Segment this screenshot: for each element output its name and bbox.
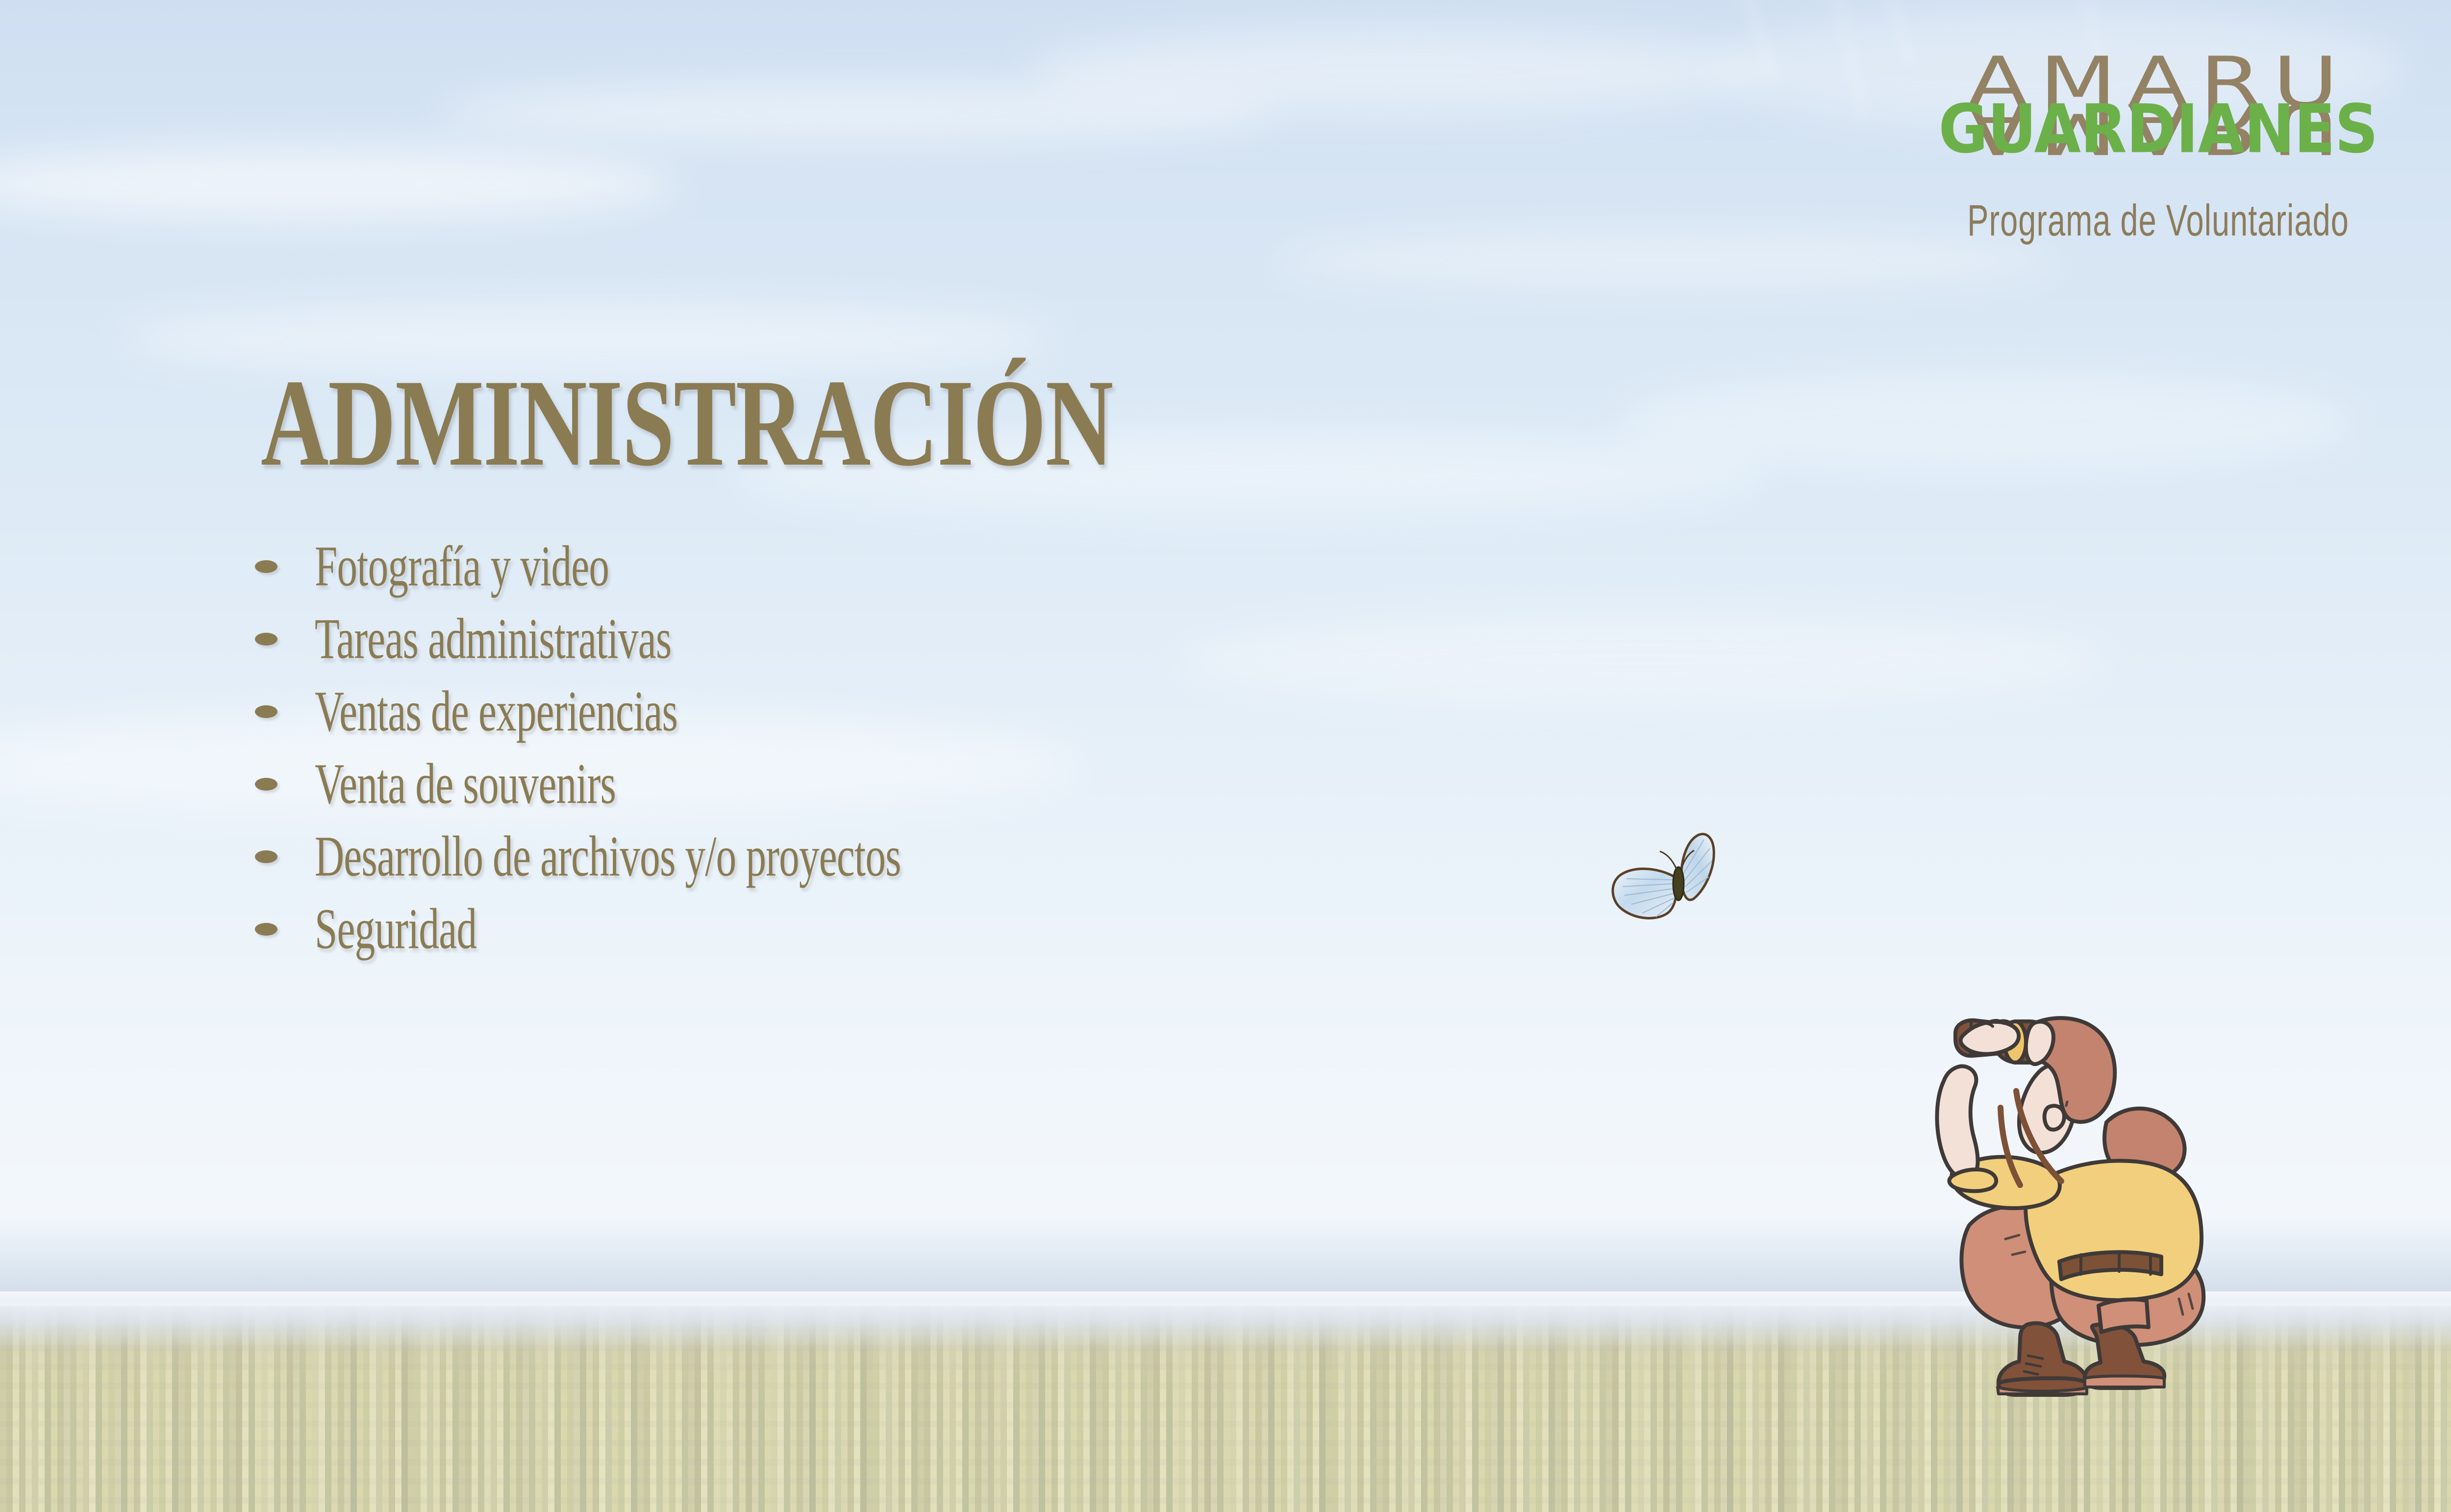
list-item-label: Fotografía y video bbox=[315, 538, 609, 595]
cloud-streak bbox=[1029, 29, 1765, 113]
list-item-label: Venta de souvenirs bbox=[315, 755, 616, 813]
logo-guardianes-text: GUARDIANES bbox=[1857, 96, 2451, 163]
list-item-label: Tareas administrativas bbox=[315, 610, 671, 668]
list-item: Tareas administrativas bbox=[255, 618, 1775, 661]
list-item: Venta de souvenirs bbox=[255, 763, 1775, 806]
list-item: Desarrollo de archivos y/o proyectos bbox=[255, 835, 1775, 878]
bullet-list: Fotografía y video Tareas administrativa… bbox=[255, 545, 1775, 980]
page-title: ADMINISTRACIÓN bbox=[261, 360, 1113, 485]
list-item: Fotografía y video bbox=[255, 545, 1775, 588]
bullet-dot-icon bbox=[255, 633, 277, 645]
bullet-dot-icon bbox=[255, 850, 277, 863]
bullet-dot-icon bbox=[255, 705, 277, 718]
logo-subtitle: Programa de Voluntariado bbox=[1904, 196, 2412, 246]
slide: AMARU AMARU GUARDIANES Programa de Volun… bbox=[0, 0, 2451, 1512]
bullet-dot-icon bbox=[255, 560, 277, 573]
bullet-dot-icon bbox=[255, 923, 277, 936]
list-item-label: Seguridad bbox=[315, 900, 476, 958]
birdwatcher-illustration bbox=[1914, 961, 2213, 1421]
amaru-guardianes-logo: AMARU AMARU GUARDIANES Programa de Volun… bbox=[1885, 54, 2431, 314]
list-item-label: Ventas de experiencias bbox=[315, 683, 677, 741]
list-item: Seguridad bbox=[255, 908, 1775, 951]
list-item-label: Desarrollo de archivos y/o proyectos bbox=[315, 828, 901, 886]
list-item: Ventas de experiencias bbox=[255, 690, 1775, 733]
bullet-dot-icon bbox=[255, 778, 277, 791]
cloud-streak bbox=[1618, 372, 2353, 471]
butterfly-icon bbox=[1608, 826, 1745, 934]
